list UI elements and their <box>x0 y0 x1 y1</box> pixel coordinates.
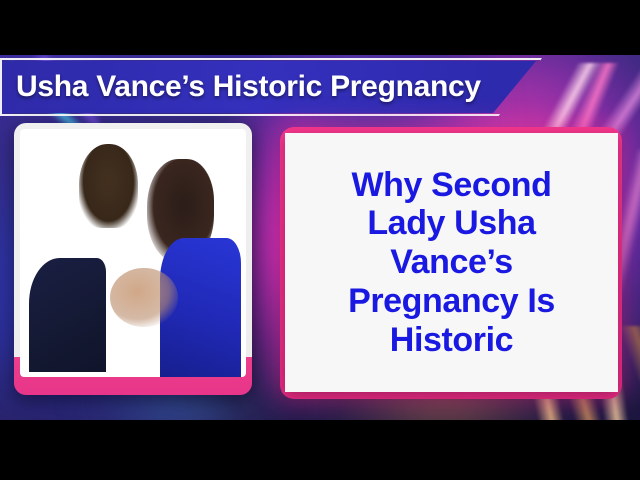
photograph-image <box>20 129 246 377</box>
banner-bar: Usha Vance’s Historic Pregnancy <box>0 61 536 113</box>
photo-arm <box>110 268 178 328</box>
headline-card: Why Second Lady Usha Vance’s Pregnancy I… <box>285 133 618 392</box>
thumbnail-content-area: Usha Vance’s Historic Pregnancy Why Seco… <box>0 55 640 420</box>
banner-title: Usha Vance’s Historic Pregnancy <box>16 70 481 104</box>
video-thumbnail-frame: Usha Vance’s Historic Pregnancy Why Seco… <box>0 0 640 480</box>
photo-frame <box>20 129 246 377</box>
headline-text: Why Second Lady Usha Vance’s Pregnancy I… <box>348 166 555 360</box>
photo-man-hair <box>79 144 138 228</box>
letterbox-bar-top <box>0 0 640 55</box>
photo-man-suit <box>29 258 106 372</box>
letterbox-bar-bottom <box>0 420 640 480</box>
